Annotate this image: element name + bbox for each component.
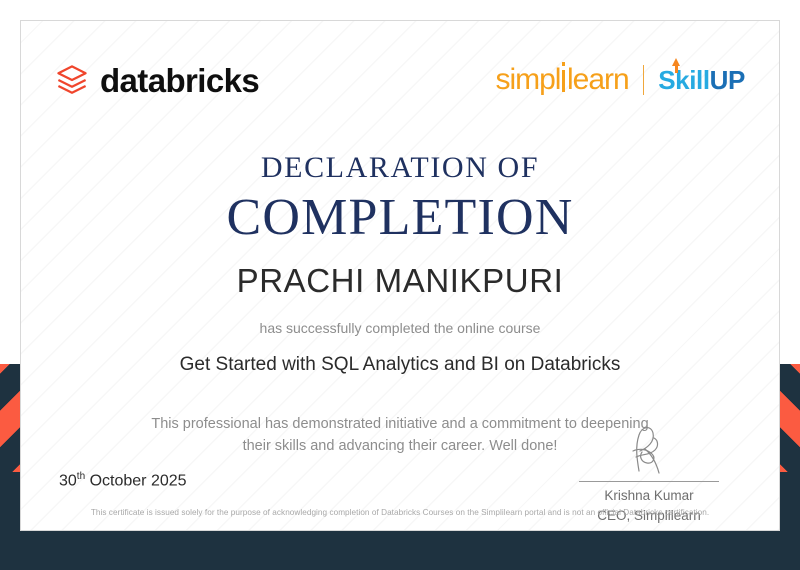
- certificate-page: databricks simpllearn SkillUP DECLARATIO…: [0, 0, 800, 570]
- certificate-body: databricks simpllearn SkillUP DECLARATIO…: [20, 20, 780, 531]
- issue-date-day: 30: [59, 472, 77, 489]
- databricks-logo: databricks: [55, 63, 259, 97]
- recipient-name: PRACHI MANIKPURI: [21, 261, 779, 301]
- simplilearn-text-a: simpl: [495, 63, 560, 96]
- databricks-wordmark: databricks: [100, 64, 259, 97]
- partner-logo-group: simpllearn SkillUP: [495, 65, 745, 95]
- handwritten-signature-icon: [609, 421, 689, 479]
- issue-date-ordinal: th: [77, 471, 85, 482]
- signature-line: [579, 481, 719, 482]
- bottom-decorative-band: [0, 528, 800, 570]
- simplilearn-i-stem: [562, 70, 565, 92]
- title-line-declaration-of: DECLARATION OF: [21, 151, 779, 186]
- signatory-name: Krishna Kumar: [559, 486, 739, 506]
- title-line-completion: COMPLETION: [21, 188, 779, 248]
- issue-date: 30th October 2025: [59, 471, 187, 491]
- skillup-text-a: Skill: [658, 65, 709, 95]
- course-title: Get Started with SQL Analytics and BI on…: [141, 351, 659, 379]
- skillup-logo: SkillUP: [658, 67, 745, 93]
- completion-subtitle: has successfully completed the online co…: [21, 319, 779, 339]
- certificate-title: DECLARATION OF COMPLETION: [21, 151, 779, 247]
- skillup-text-b: UP: [710, 65, 745, 95]
- skillup-up-arrow-icon: [672, 58, 680, 66]
- logo-row: databricks simpllearn SkillUP: [55, 63, 745, 107]
- simplilearn-logo: simpllearn: [495, 65, 628, 95]
- issue-date-month-year: October 2025: [90, 472, 187, 489]
- logo-divider: [643, 65, 645, 95]
- databricks-stacked-layers-icon: [55, 63, 89, 97]
- simplilearn-text-b: learn: [567, 63, 629, 96]
- disclaimer-text: This certificate is issued solely for th…: [61, 507, 739, 518]
